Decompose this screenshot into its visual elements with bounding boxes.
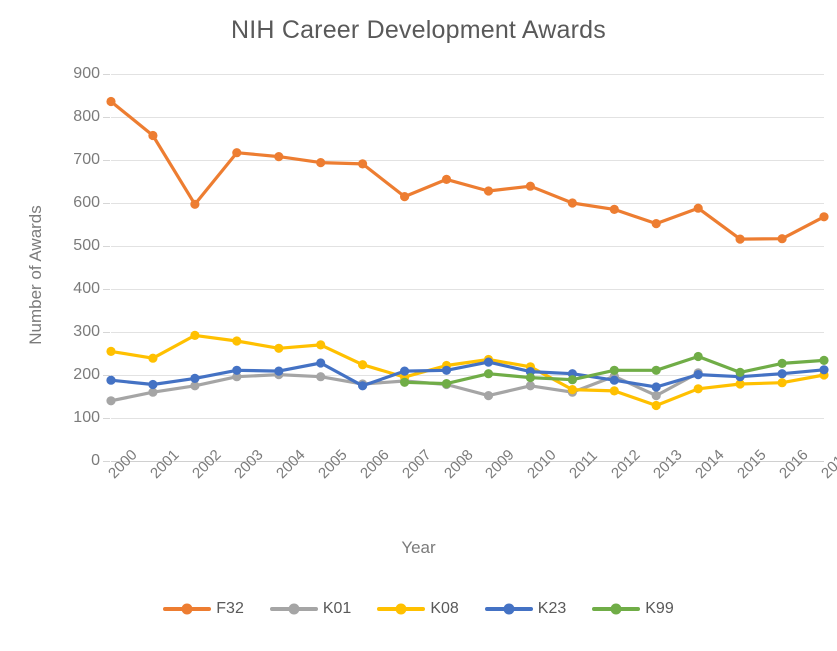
series-line	[111, 335, 824, 405]
y-tick-label: 800	[52, 108, 100, 126]
legend-swatch-icon	[592, 607, 640, 611]
data-point	[274, 152, 283, 161]
data-point	[148, 354, 157, 363]
legend-label: K23	[538, 600, 566, 618]
y-tick-mark	[103, 418, 110, 419]
data-point	[610, 366, 619, 375]
legend-item-f32[interactable]: F32	[163, 600, 244, 618]
legend-item-k01[interactable]: K01	[270, 600, 351, 618]
series-f32	[106, 97, 828, 244]
legend-item-k99[interactable]: K99	[592, 600, 673, 618]
data-point	[778, 234, 787, 243]
data-point	[106, 376, 115, 385]
y-tick-mark	[103, 289, 110, 290]
data-point	[778, 378, 787, 387]
data-point	[736, 368, 745, 377]
data-point	[106, 396, 115, 405]
data-point	[819, 356, 828, 365]
y-tick-mark	[103, 375, 110, 376]
data-point	[190, 331, 199, 340]
y-tick-label: 400	[52, 280, 100, 298]
legend-swatch-icon	[377, 607, 425, 611]
y-tick-mark	[103, 117, 110, 118]
legend-label: K08	[430, 600, 458, 618]
data-point	[232, 336, 241, 345]
y-tick-label: 200	[52, 366, 100, 384]
data-point	[190, 200, 199, 209]
data-point	[694, 352, 703, 361]
data-point	[316, 340, 325, 349]
data-point	[526, 182, 535, 191]
legend-label: K01	[323, 600, 351, 618]
data-point	[484, 186, 493, 195]
y-tick-label: 900	[52, 65, 100, 83]
data-point	[610, 386, 619, 395]
y-tick-label: 500	[52, 237, 100, 255]
data-point	[819, 212, 828, 221]
data-point	[568, 385, 577, 394]
data-point	[148, 131, 157, 140]
data-point	[526, 381, 535, 390]
y-axis-tick-labels: 9008007006005004003002001000	[48, 74, 100, 461]
chart-title: NIH Career Development Awards	[0, 16, 837, 45]
y-tick-mark	[103, 160, 110, 161]
data-point	[190, 374, 199, 383]
data-point	[568, 375, 577, 384]
data-point	[610, 205, 619, 214]
data-point	[106, 347, 115, 356]
data-point	[358, 360, 367, 369]
data-point	[106, 97, 115, 106]
y-tick-label: 0	[52, 452, 100, 470]
y-tick-mark	[103, 203, 110, 204]
series-layer	[111, 74, 824, 461]
data-point	[652, 382, 661, 391]
series-line	[111, 362, 824, 387]
y-tick-label: 100	[52, 409, 100, 427]
data-point	[819, 365, 828, 374]
data-point	[484, 369, 493, 378]
data-point	[694, 370, 703, 379]
data-point	[274, 344, 283, 353]
y-axis-title: Number of Awards	[26, 150, 46, 400]
series-k08	[106, 331, 828, 410]
data-point	[358, 381, 367, 390]
y-tick-mark	[103, 246, 110, 247]
legend-item-k23[interactable]: K23	[485, 600, 566, 618]
legend-label: K99	[645, 600, 673, 618]
x-axis-line	[111, 461, 824, 462]
legend-label: F32	[216, 600, 244, 618]
data-point	[652, 219, 661, 228]
y-tick-label: 700	[52, 151, 100, 169]
data-point	[400, 378, 409, 387]
data-point	[652, 391, 661, 400]
y-tick-label: 600	[52, 194, 100, 212]
data-point	[610, 376, 619, 385]
legend-swatch-icon	[270, 607, 318, 611]
data-point	[442, 366, 451, 375]
legend-swatch-icon	[163, 607, 211, 611]
data-point	[316, 158, 325, 167]
data-point	[274, 367, 283, 376]
y-tick-mark	[103, 74, 110, 75]
data-point	[736, 235, 745, 244]
y-tick-mark	[103, 332, 110, 333]
data-point	[400, 192, 409, 201]
data-point	[484, 391, 493, 400]
data-point	[232, 366, 241, 375]
data-point	[568, 198, 577, 207]
data-point	[148, 380, 157, 389]
x-axis-title: Year	[0, 538, 837, 558]
data-point	[442, 379, 451, 388]
data-point	[442, 175, 451, 184]
data-point	[316, 358, 325, 367]
data-point	[316, 372, 325, 381]
data-point	[778, 359, 787, 368]
data-point	[652, 401, 661, 410]
data-point	[778, 369, 787, 378]
chart-legend: F32K01K08K23K99	[0, 600, 837, 618]
data-point	[526, 373, 535, 382]
legend-item-k08[interactable]: K08	[377, 600, 458, 618]
data-point	[652, 366, 661, 375]
y-tick-label: 300	[52, 323, 100, 341]
data-point	[400, 367, 409, 376]
series-line	[111, 102, 824, 240]
chart-container: NIH Career Development Awards Number of …	[0, 0, 837, 651]
data-point	[484, 358, 493, 367]
y-tick-mark	[103, 461, 110, 462]
data-point	[232, 148, 241, 157]
legend-swatch-icon	[485, 607, 533, 611]
data-point	[694, 384, 703, 393]
data-point	[694, 204, 703, 213]
data-point	[358, 159, 367, 168]
